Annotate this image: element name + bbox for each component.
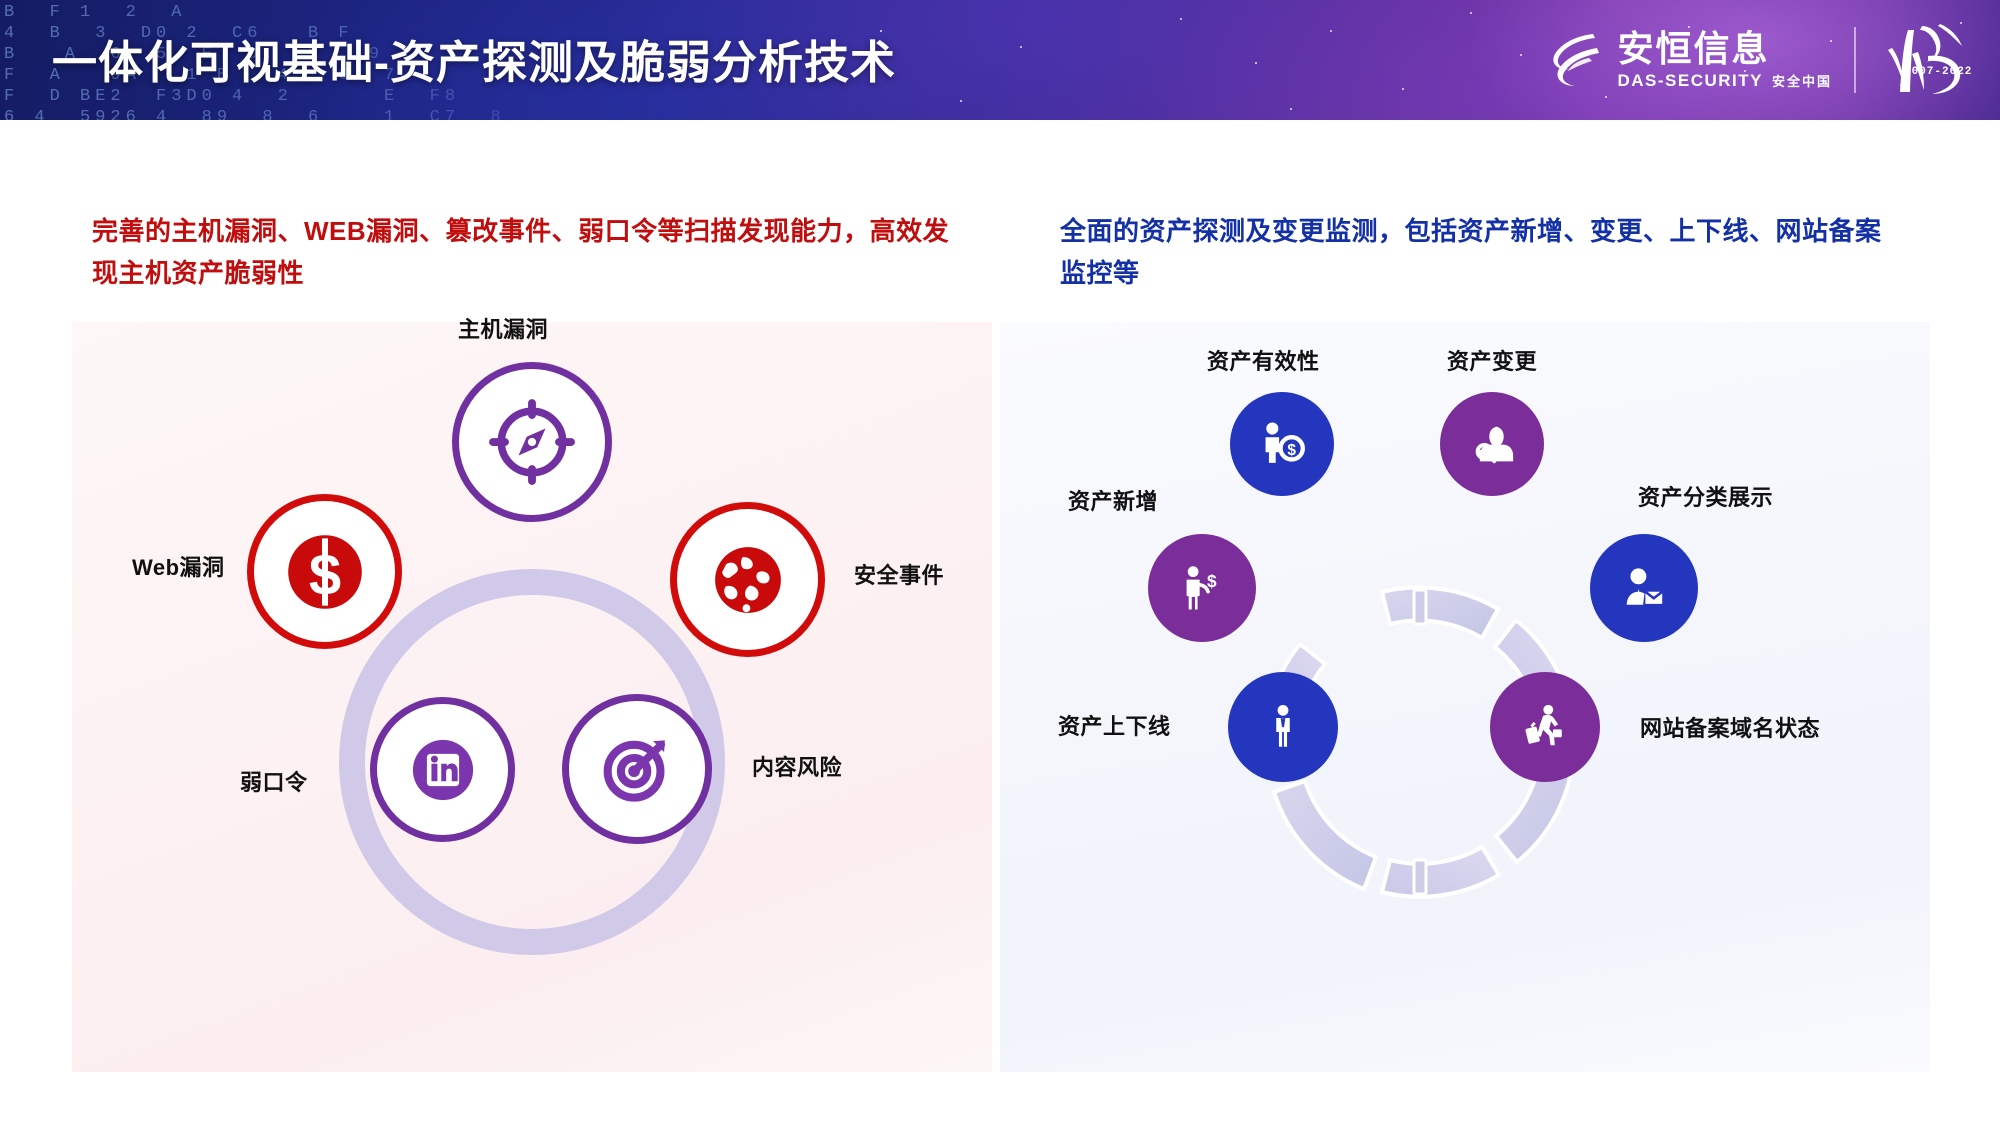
dollar-icon: $: [277, 524, 373, 620]
compass-icon: [487, 397, 577, 487]
node-label-weak-password: 弱口令: [240, 765, 308, 797]
person-standing-icon: [1256, 700, 1310, 754]
svg-text:$: $: [1287, 442, 1296, 459]
person-mail-icon: [1616, 560, 1672, 616]
node-label-asset-online-offline: 资产上下线: [1058, 709, 1171, 741]
brand-divider: [1854, 27, 1856, 93]
node-asset-new[interactable]: $: [1148, 534, 1256, 642]
brand-name-en: DAS-SECURITY: [1617, 71, 1763, 91]
anniversary-brush-icon: [1878, 22, 1974, 98]
node-content-risk[interactable]: [562, 694, 712, 844]
person-search-icon: [1465, 417, 1519, 471]
node-label-domain-record-status: 网站备案域名状态: [1640, 711, 1820, 743]
node-label-asset-category: 资产分类展示: [1638, 480, 1773, 512]
left-ring-diagram: 主机漏洞 Web漏洞 $: [72, 322, 992, 1072]
node-host-vuln[interactable]: [452, 362, 612, 522]
page-title: 一体化可视基础-资产探测及脆弱分析技术: [52, 26, 896, 91]
node-web-vuln[interactable]: $: [247, 494, 402, 649]
person-dollar-icon: $: [1174, 560, 1230, 616]
anniversary-year-range: 2007-2022: [1904, 66, 1972, 78]
node-label-asset-new: 资产新增: [1068, 484, 1158, 516]
node-label-web-vuln: Web漏洞: [132, 550, 225, 582]
right-panel: 资产有效性 $ 资产变更 资产新增: [1000, 322, 1930, 1072]
node-label-asset-change: 资产变更: [1447, 344, 1537, 376]
linkedin-icon: [401, 728, 485, 812]
brand-slogan: 安全中国: [1772, 71, 1832, 90]
node-asset-category[interactable]: [1590, 534, 1698, 642]
node-label-asset-validity: 资产有效性: [1207, 344, 1320, 376]
brand-name-cn: 安恒信息: [1617, 29, 1832, 69]
node-security-event[interactable]: [670, 502, 825, 657]
left-headline: 完善的主机漏洞、WEB漏洞、篡改事件、弱口令等扫描发现能力，高效发现主机资产脆弱…: [92, 210, 972, 294]
svg-text:$: $: [1207, 571, 1217, 591]
left-panel: 主机漏洞 Web漏洞 $: [72, 322, 992, 1072]
node-asset-change[interactable]: [1440, 392, 1544, 496]
right-headline: 全面的资产探测及变更监测，包括资产新增、变更、上下线、网站备案监控等: [1060, 210, 1900, 294]
brand-logo: 安恒信息 DAS-SECURITY 安全中国 2007-2022: [1545, 20, 1974, 100]
target-icon: [593, 725, 681, 813]
node-label-host-vuln: 主机漏洞: [458, 312, 548, 344]
node-label-content-risk: 内容风险: [752, 750, 842, 782]
das-security-logo-icon: [1545, 28, 1607, 92]
right-hexagon-diagram: 资产有效性 $ 资产变更 资产新增: [1000, 322, 1930, 1072]
node-asset-validity[interactable]: $: [1230, 392, 1334, 496]
slide-header: B F 1 2 A 4 B 3 D0 2 C6 B F B A 6 5 E D …: [0, 0, 2000, 120]
node-weak-password[interactable]: [370, 697, 515, 842]
node-asset-online-offline[interactable]: [1228, 672, 1338, 782]
traveler-icon: [1517, 699, 1573, 755]
anniversary-mark: 2007-2022: [1878, 22, 1974, 98]
node-label-security-event: 安全事件: [854, 558, 944, 590]
node-domain-record-status[interactable]: [1490, 672, 1600, 782]
globe-icon: [701, 533, 795, 627]
person-coin-icon: $: [1253, 415, 1311, 473]
